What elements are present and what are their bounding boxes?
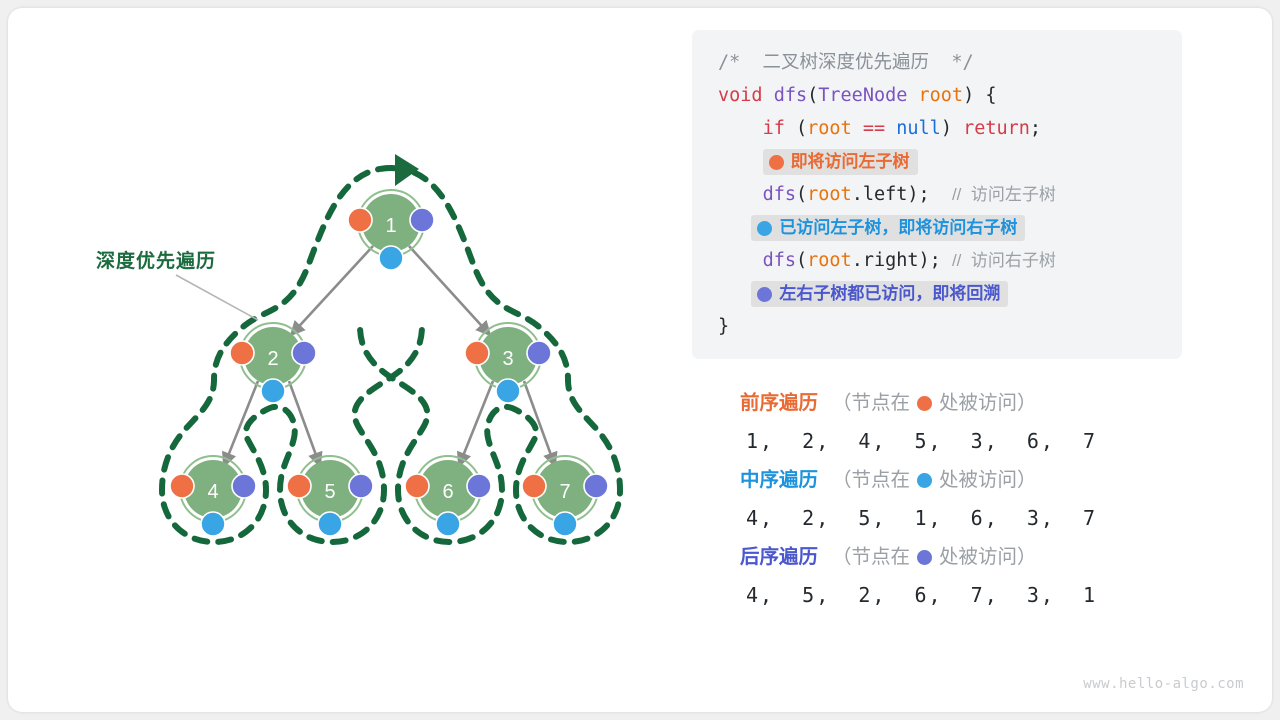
tree-node-6[interactable]: 6 xyxy=(405,456,491,536)
node-7-label: 7 xyxy=(559,481,570,503)
token-rparen2: ) xyxy=(941,118,963,139)
edge-1-2 xyxy=(291,246,373,335)
code-line-close-brace: } xyxy=(692,310,1182,343)
postorder-title: 后序遍历 xyxy=(740,542,818,572)
node-5-in-dot xyxy=(318,512,342,536)
token-fn-dfs: dfs xyxy=(774,85,807,106)
annotation-leader-line xyxy=(176,275,258,320)
inorder-note-after: 处被访问） xyxy=(939,465,1037,495)
token-fn-dfs-right: dfs xyxy=(763,250,796,271)
postorder-marker-dot-icon xyxy=(917,550,932,565)
badge-inorder: 已访问左子树，即将访问右子树 xyxy=(751,215,1025,241)
right-column: /* 二叉树深度优先遍历 */ void dfs(TreeNode root) … xyxy=(692,8,1272,712)
badge-postorder-text: 左右子树都已访问，即将回溯 xyxy=(779,282,1000,306)
code-line-comment-header: /* 二叉树深度优先遍历 */ xyxy=(692,46,1182,79)
tree-node-3[interactable]: 3 xyxy=(465,323,551,403)
node-4-in-dot xyxy=(201,512,225,536)
token-if: if xyxy=(763,118,785,139)
node-6-pre-dot xyxy=(405,474,429,498)
code-block: /* 二叉树深度优先遍历 */ void dfs(TreeNode root) … xyxy=(692,30,1182,359)
node-3-pre-dot xyxy=(465,341,489,365)
token-lparen: ( xyxy=(807,85,818,106)
node-7-post-dot xyxy=(584,474,608,498)
preorder-heading: 前序遍历 （节点在 处被访问） xyxy=(740,388,1260,418)
token-void: void xyxy=(718,85,763,106)
token-rparen3: ); xyxy=(907,184,952,205)
postorder-note-before: （节点在 xyxy=(832,542,910,572)
inorder-note-before: （节点在 xyxy=(832,465,910,495)
postorder-note-after: 处被访问） xyxy=(939,542,1037,572)
node-2-in-dot xyxy=(261,379,285,403)
preorder-marker-dot-icon xyxy=(917,396,932,411)
token-guard-root: root xyxy=(807,118,852,139)
node-2-pre-dot xyxy=(230,341,254,365)
token-rparen-brace: ) { xyxy=(963,85,996,106)
tree-node-5[interactable]: 5 xyxy=(287,456,373,536)
token-type-treenode: TreeNode xyxy=(818,85,907,106)
tree-node-7[interactable]: 7 xyxy=(522,456,608,536)
node-5-label: 5 xyxy=(324,481,335,503)
edge-1-3 xyxy=(409,246,490,335)
badge-inorder-text: 已访问左子树，即将访问右子树 xyxy=(779,216,1017,240)
token-eq: == xyxy=(863,118,885,139)
token-prop-right: .right xyxy=(852,250,919,271)
node-7-in-dot xyxy=(553,512,577,536)
preorder-sequence: 1, 2, 4, 5, 3, 6, 7 xyxy=(740,418,1260,465)
code-line-badge-pre: 即将访问左子树 xyxy=(692,145,1182,178)
node-4-label: 4 xyxy=(207,481,218,503)
code-line-badge-post: 左右子树都已访问，即将回溯 xyxy=(692,277,1182,310)
token-fn-dfs-left: dfs xyxy=(763,184,796,205)
token-right-root: root xyxy=(807,250,852,271)
edge-3-7 xyxy=(524,381,555,466)
token-space3: ( xyxy=(785,118,807,139)
node-4-post-dot xyxy=(232,474,256,498)
inorder-marker-dot-icon xyxy=(917,473,932,488)
token-return: return xyxy=(963,118,1030,139)
start-play-triangle-icon xyxy=(395,154,419,186)
comment-visit-left: // 访问左子树 xyxy=(952,185,1056,204)
node-2-label: 2 xyxy=(267,348,278,370)
token-space2 xyxy=(907,85,918,106)
token-lparen4: ( xyxy=(796,250,807,271)
node-5-post-dot xyxy=(349,474,373,498)
edge-2-4 xyxy=(224,381,258,466)
badge-preorder-text: 即将访问左子树 xyxy=(791,150,910,174)
token-semi: ; xyxy=(1030,118,1041,139)
node-7-pre-dot xyxy=(522,474,546,498)
postorder-dot-icon xyxy=(757,287,772,302)
node-6-label: 6 xyxy=(442,481,453,503)
node-5-pre-dot xyxy=(287,474,311,498)
preorder-note-after: 处被访问） xyxy=(939,388,1037,418)
badge-postorder: 左右子树都已访问，即将回溯 xyxy=(751,281,1008,307)
token-rparen4: ); xyxy=(919,250,952,271)
token-arg-root: root xyxy=(919,85,964,106)
node-4-pre-dot xyxy=(170,474,194,498)
node-3-in-dot xyxy=(496,379,520,403)
binary-tree-diagram: 1 2 3 xyxy=(8,8,688,712)
preorder-title: 前序遍历 xyxy=(740,388,818,418)
token-lparen3: ( xyxy=(796,184,807,205)
token-space xyxy=(763,85,774,106)
inorder-dot-icon xyxy=(757,221,772,236)
node-1-in-dot xyxy=(379,246,403,270)
token-space5 xyxy=(885,118,896,139)
postorder-heading: 后序遍历 （节点在 处被访问） xyxy=(740,542,1260,572)
token-left-root: root xyxy=(807,184,852,205)
node-1-label: 1 xyxy=(385,215,396,237)
dfs-annotation-label: 深度优先遍历 xyxy=(96,246,216,273)
token-space4 xyxy=(852,118,863,139)
token-prop-left: .left xyxy=(852,184,908,205)
traversal-results: 前序遍历 （节点在 处被访问） 1, 2, 4, 5, 3, 6, 7 中序遍历… xyxy=(740,388,1260,619)
badge-preorder: 即将访问左子树 xyxy=(763,149,918,175)
code-comment-header: /* 二叉树深度优先遍历 */ xyxy=(718,52,974,73)
node-1-post-dot xyxy=(410,208,434,232)
inorder-heading: 中序遍历 （节点在 处被访问） xyxy=(740,465,1260,495)
comment-visit-right: // 访问右子树 xyxy=(952,251,1056,270)
code-line-call-right: dfs(root.right); // 访问右子树 xyxy=(692,244,1182,277)
node-6-post-dot xyxy=(467,474,491,498)
node-3-post-dot xyxy=(527,341,551,365)
node-2-post-dot xyxy=(292,341,316,365)
token-null: null xyxy=(896,118,941,139)
preorder-note-before: （节点在 xyxy=(832,388,910,418)
code-line-signature: void dfs(TreeNode root) { xyxy=(692,79,1182,112)
code-line-guard: if (root == null) return; xyxy=(692,112,1182,145)
node-3-label: 3 xyxy=(502,348,513,370)
content-card: 1 2 3 xyxy=(8,8,1272,712)
site-watermark: www.hello-algo.com xyxy=(1083,676,1244,692)
tree-node-2[interactable]: 2 xyxy=(230,323,316,403)
postorder-sequence: 4, 5, 2, 6, 7, 3, 1 xyxy=(740,572,1260,619)
node-6-in-dot xyxy=(436,512,460,536)
tree-node-4[interactable]: 4 xyxy=(170,456,256,536)
node-1-pre-dot xyxy=(348,208,372,232)
token-close-brace: } xyxy=(718,316,729,337)
screenshot-canvas: 1 2 3 xyxy=(0,0,1280,720)
preorder-dot-icon xyxy=(769,155,784,170)
inorder-title: 中序遍历 xyxy=(740,465,818,495)
code-line-call-left: dfs(root.left); // 访问左子树 xyxy=(692,178,1182,211)
code-line-badge-in: 已访问左子树，即将访问右子树 xyxy=(692,211,1182,244)
inorder-sequence: 4, 2, 5, 1, 6, 3, 7 xyxy=(740,495,1260,542)
